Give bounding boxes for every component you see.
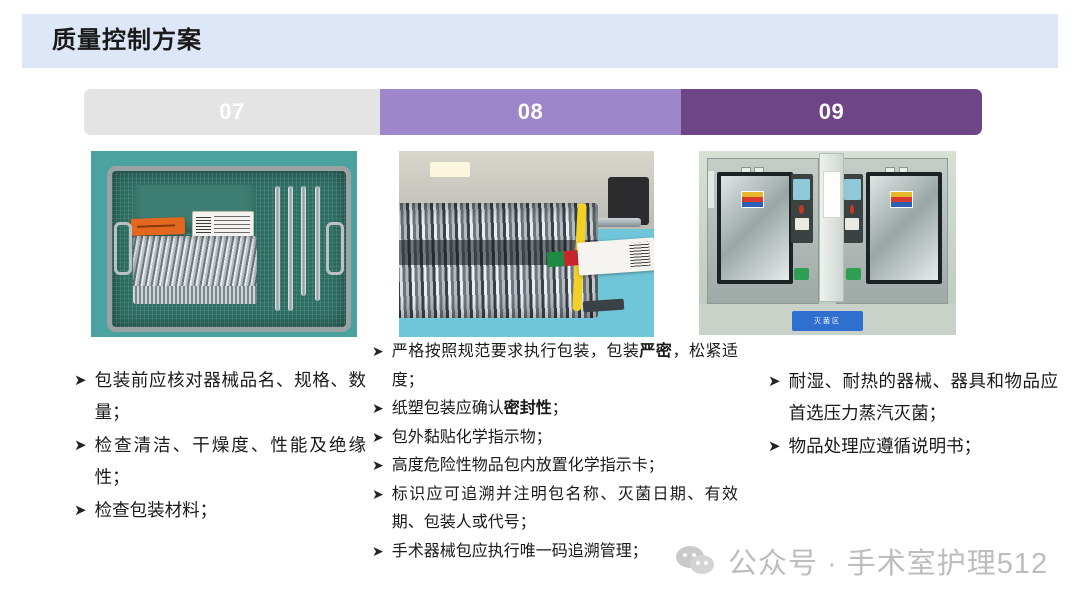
bullet-arrow-icon: ➤	[372, 424, 384, 453]
watermark: 公众号 · 手术室护理512	[676, 540, 1048, 582]
step-tab-bar: 07 08 09	[84, 89, 982, 135]
bullet-arrow-icon: ➤	[768, 430, 781, 462]
stacked-instruments	[133, 236, 257, 303]
list-item-text: 检查清洁、干燥度、性能及绝缘性；	[95, 429, 366, 493]
list-item: ➤ 标识应可追溯并注明包名称、灭菌日期、有效期、包装人或代号；	[372, 481, 738, 538]
bullet-arrow-icon: ➤	[768, 365, 781, 397]
tab-07[interactable]: 07	[84, 89, 380, 135]
ceiling-light	[430, 162, 471, 177]
list-item: ➤ 纸塑包装应确认密封性；	[372, 395, 738, 424]
basket-handle-left	[114, 222, 132, 275]
bullet-arrow-icon: ➤	[372, 338, 384, 367]
watermark-text: 公众号 · 手术室护理512	[728, 540, 1048, 582]
orange-id-tag	[130, 217, 184, 236]
sterilizer-right	[836, 158, 949, 304]
panel-placard-left	[795, 218, 809, 230]
wall-meter-left	[708, 171, 715, 208]
bullet-arrow-icon: ➤	[74, 429, 87, 461]
list-item-text: 耐湿、耐热的器械、器具和物品应首选压力蒸汽灭菌；	[789, 365, 1058, 429]
photo-surgical-instrument-tray	[91, 151, 357, 337]
photo-ring-instruments-with-tag	[399, 151, 654, 337]
list-item-text: 包外黏贴化学指示物；	[392, 424, 738, 453]
bullet-arrow-icon: ➤	[372, 538, 384, 567]
list-item-text: 标识应可追溯并注明包名称、灭菌日期、有效期、包装人或代号；	[392, 481, 738, 538]
photo-steam-sterilizers: 灭菌区	[699, 151, 956, 335]
center-pillar	[819, 153, 844, 302]
page-title: 质量控制方案	[52, 26, 202, 56]
sterilizer-left	[707, 158, 820, 304]
bullet-arrow-icon: ➤	[372, 481, 384, 510]
emergency-stop-left[interactable]	[799, 205, 804, 213]
tab-08[interactable]: 08	[380, 89, 681, 135]
long-instruments	[271, 186, 334, 311]
list-item-text: 检查包装材料；	[95, 494, 366, 526]
list-item: ➤ 检查清洁、干燥度、性能及绝缘性；	[74, 429, 366, 493]
list-item: ➤ 检查包装材料；	[74, 494, 366, 526]
panel-placard-right	[845, 218, 859, 230]
list-item-text: 包装前应核对器械品名、规格、数量；	[95, 364, 366, 428]
list-item: ➤ 严格按照规范要求执行包装，包装严密，松紧适度；	[372, 338, 738, 395]
bullet-column-09: ➤ 耐湿、耐热的器械、器具和物品应首选压力蒸汽灭菌； ➤ 物品处理应遵循说明书；	[768, 365, 1058, 463]
tab-09[interactable]: 09	[681, 89, 982, 135]
list-item: ➤ 包外黏贴化学指示物；	[372, 424, 738, 453]
panel-screen-left	[793, 179, 810, 200]
bullet-arrow-icon: ➤	[74, 494, 87, 526]
emergency-stop-right[interactable]	[850, 205, 855, 213]
bullet-column-07: ➤ 包装前应核对器械品名、规格、数量； ➤ 检查清洁、干燥度、性能及绝缘性； ➤…	[74, 364, 366, 527]
indicator-sticker-right	[890, 191, 913, 208]
control-panel-left	[791, 174, 813, 243]
wall-notice	[823, 171, 841, 217]
instrument-basket	[107, 166, 351, 332]
bullet-arrow-icon: ➤	[372, 395, 384, 424]
sterilizer-door-right	[866, 172, 943, 283]
indicator-sticker-left	[741, 191, 764, 208]
bullet-arrow-icon: ➤	[372, 452, 384, 481]
bullet-arrow-icon: ➤	[74, 364, 87, 396]
list-item-text: 高度危险性物品包内放置化学指示卡；	[392, 452, 738, 481]
list-item-text: 纸塑包装应确认密封性；	[392, 395, 738, 424]
bullet-column-08: ➤ 严格按照规范要求执行包装，包装严密，松紧适度； ➤ 纸塑包装应确认密封性； …	[372, 338, 738, 566]
status-light-left	[794, 268, 809, 279]
traceability-label-3m	[576, 238, 654, 277]
list-item-text: 严格按照规范要求执行包装，包装严密，松紧适度；	[392, 338, 738, 395]
list-item: ➤ 耐湿、耐热的器械、器具和物品应首选压力蒸汽灭菌；	[768, 365, 1058, 429]
list-item-text: 物品处理应遵循说明书；	[789, 430, 1058, 462]
sterilizer-door-left	[717, 172, 794, 283]
control-panel-right	[841, 174, 863, 243]
floor-zone-sign: 灭菌区	[792, 311, 864, 331]
basket-handle-right	[326, 222, 344, 275]
wechat-bubbles-icon	[676, 546, 718, 576]
slide-root: 质量控制方案 07 08 09	[0, 0, 1080, 608]
status-light-right	[846, 268, 861, 279]
panel-screen-right	[844, 179, 861, 200]
list-item: ➤ 物品处理应遵循说明书；	[768, 430, 1058, 462]
list-item: ➤ 包装前应核对器械品名、规格、数量；	[74, 364, 366, 428]
list-item: ➤ 高度危险性物品包内放置化学指示卡；	[372, 452, 738, 481]
packing-label	[192, 211, 255, 238]
